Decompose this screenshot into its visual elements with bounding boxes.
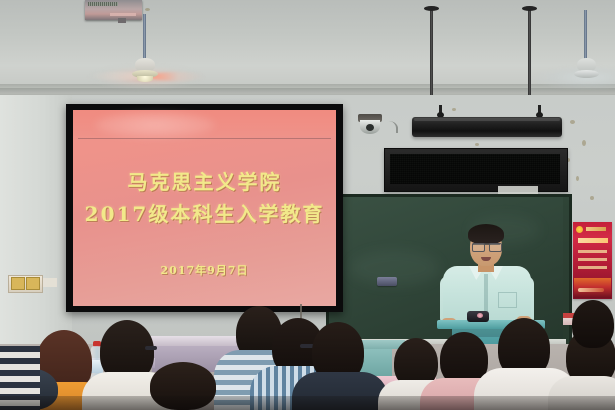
speaker-shirt-pocket [498, 292, 517, 308]
hanging-rod [528, 8, 531, 98]
slide-date: 2017年9月7日 [73, 262, 336, 278]
projector-glare [95, 112, 215, 138]
foreground-shadow [0, 396, 615, 410]
wall-mark [145, 8, 150, 11]
classroom-photo: 马克思主义学院 2017级本科生入学教育 2017年9月7日 [0, 0, 615, 410]
ceiling-fan-right-rod [584, 10, 587, 62]
projector-mount [118, 18, 126, 23]
poster-emblem-icon [576, 226, 583, 233]
light-switch-toggle[interactable] [26, 277, 40, 290]
camera-cable [382, 121, 398, 133]
ceiling-fan-left-light [137, 76, 153, 82]
poster-gold-banner [586, 227, 606, 231]
wall-mark [475, 143, 479, 146]
ceiling-fan-left-rod [143, 14, 146, 62]
wall-mark [570, 120, 575, 124]
wall-mark [452, 108, 456, 111]
slide-title-line-2: 2017级本科生入学教育 [73, 198, 336, 227]
glasses-lens [472, 243, 485, 252]
wall-mark [590, 196, 594, 200]
slide-title-line-1: 马克思主义学院 [73, 166, 336, 195]
wall-mark [576, 176, 579, 181]
poster-photo-streak [578, 288, 604, 292]
slide-divider [78, 138, 331, 139]
projector-vent [88, 2, 118, 6]
glasses-icon [145, 346, 157, 350]
glasses-lens [489, 243, 502, 252]
camera-lens [366, 124, 374, 131]
wall-trim [41, 278, 57, 287]
ceiling-fan-right-hub [574, 70, 599, 78]
poster-text-line [578, 250, 607, 253]
hanging-rod-cap [522, 6, 537, 11]
microphone-indicator [477, 313, 483, 318]
ceiling-fan-left-blade-blur [150, 72, 206, 81]
chalkboard-eraser[interactable] [377, 277, 397, 286]
poster-text-line [578, 266, 607, 269]
projector-label [110, 13, 136, 16]
light-switch-toggle[interactable] [11, 277, 25, 290]
led-display-matrix [390, 154, 560, 184]
speaker-hair [468, 224, 504, 244]
hanging-rod-cap [424, 6, 439, 11]
left-wall-panel [0, 95, 72, 355]
poster-text-line [578, 258, 607, 261]
poster-headline [578, 238, 608, 243]
hanging-rod [430, 8, 433, 96]
audience-head [572, 300, 614, 348]
tube-light-highlight [414, 118, 560, 121]
wall-mark [582, 140, 586, 146]
